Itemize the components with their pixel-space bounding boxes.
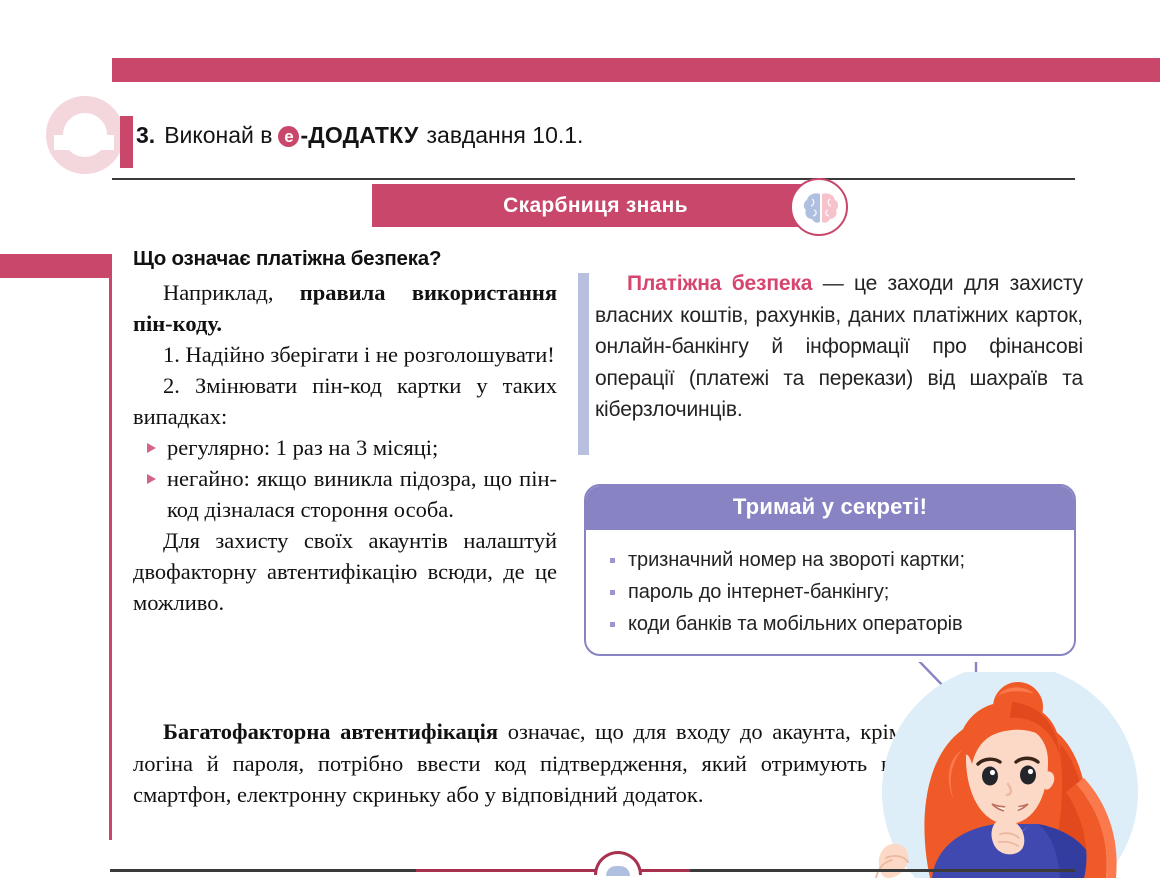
- banner-label: Скарбниця знань: [372, 184, 819, 227]
- task-text-before: Виконай в: [164, 122, 272, 149]
- e-app-watermark-logo: [46, 96, 138, 188]
- brain-icon: [790, 178, 848, 236]
- left-pink-vertical-rule: [109, 254, 112, 840]
- triangle-bullet-icon: [147, 443, 156, 453]
- footer-rule-left: [110, 869, 416, 872]
- definition-accent-bar: [578, 273, 589, 455]
- paragraph-example: Наприклад, правила використання пін-коду…: [133, 277, 557, 339]
- keep-secret-list: тризначний номер на звороті картки; паро…: [586, 530, 1074, 654]
- list-item: регулярно: 1 раз на 3 місяці;: [133, 432, 557, 463]
- triangle-bullet-icon: [147, 474, 156, 484]
- paragraph-multifactor: Багатофакторна автентифікація означає, щ…: [133, 716, 903, 811]
- girl-shushing-illustration: [862, 672, 1160, 878]
- task-line: 3. Виконай в е -ДОДАТКУ завдання 10.1.: [136, 122, 583, 149]
- rule-item-1: 1. Надійно зберігати і не розголошувати!: [133, 339, 557, 370]
- task-number: 3.: [136, 122, 155, 149]
- square-bullet-icon: [610, 622, 615, 627]
- square-bullet-icon: [610, 590, 615, 595]
- top-pink-bar: [112, 58, 1160, 82]
- list-item-label: тризначний номер на звороті картки;: [628, 549, 965, 571]
- list-item-label: коди банків та мобільних операторів: [628, 613, 962, 635]
- paragraph-example-plain: Наприклад,: [163, 280, 300, 305]
- section-subheading: Що означає платіжна безпека?: [133, 247, 557, 271]
- list-item: коди банків та мобільних операторів: [608, 608, 1074, 640]
- definition-block: Платіжна безпека — це заходи для захисту…: [578, 268, 1083, 426]
- treasury-of-knowledge-banner: Скарбниця знань: [372, 184, 819, 227]
- definition-text: Платіжна безпека — це заходи для захисту…: [578, 268, 1083, 426]
- list-item: тризначний номер на звороті картки;: [608, 544, 1074, 576]
- list-item: пароль до інтернет-банкінгу;: [608, 576, 1074, 608]
- keep-secret-callout: Тримай у секреті! тризначний номер на зв…: [584, 484, 1076, 656]
- left-pink-block: [0, 254, 112, 278]
- rule-item-2: 2. Змінювати пін-код картки у таких випа…: [133, 370, 557, 432]
- e-app-icon: е: [278, 126, 299, 147]
- list-item-label: пароль до інтернет-банкінгу;: [628, 581, 889, 603]
- left-text-column: Що означає платіжна безпека? Наприклад, …: [133, 247, 557, 618]
- task-divider-rule: [112, 178, 1075, 180]
- list-item-label: регулярно: 1 раз на 3 місяці;: [167, 435, 438, 460]
- footer-page-ornament-inner: [606, 866, 630, 876]
- footer-rule-right: [690, 869, 1075, 872]
- square-bullet-icon: [610, 558, 615, 563]
- list-item-label: негайно: якщо виникла підозра, що пін-ко…: [167, 466, 557, 522]
- keep-secret-title: Тримай у секреті!: [586, 486, 1074, 530]
- paragraph-multifactor-term: Багатофакторна автентифікація: [163, 719, 498, 744]
- definition-term: Платіжна безпека: [627, 272, 812, 295]
- paragraph-two-factor: Для захисту своїх акаунтів налаштуй двоф…: [133, 525, 557, 618]
- list-item: негайно: якщо виникла підозра, що пін-ко…: [133, 463, 557, 525]
- task-badge-suffix: -ДОДАТКУ: [300, 122, 418, 149]
- task-text-after: завдання 10.1.: [427, 122, 584, 149]
